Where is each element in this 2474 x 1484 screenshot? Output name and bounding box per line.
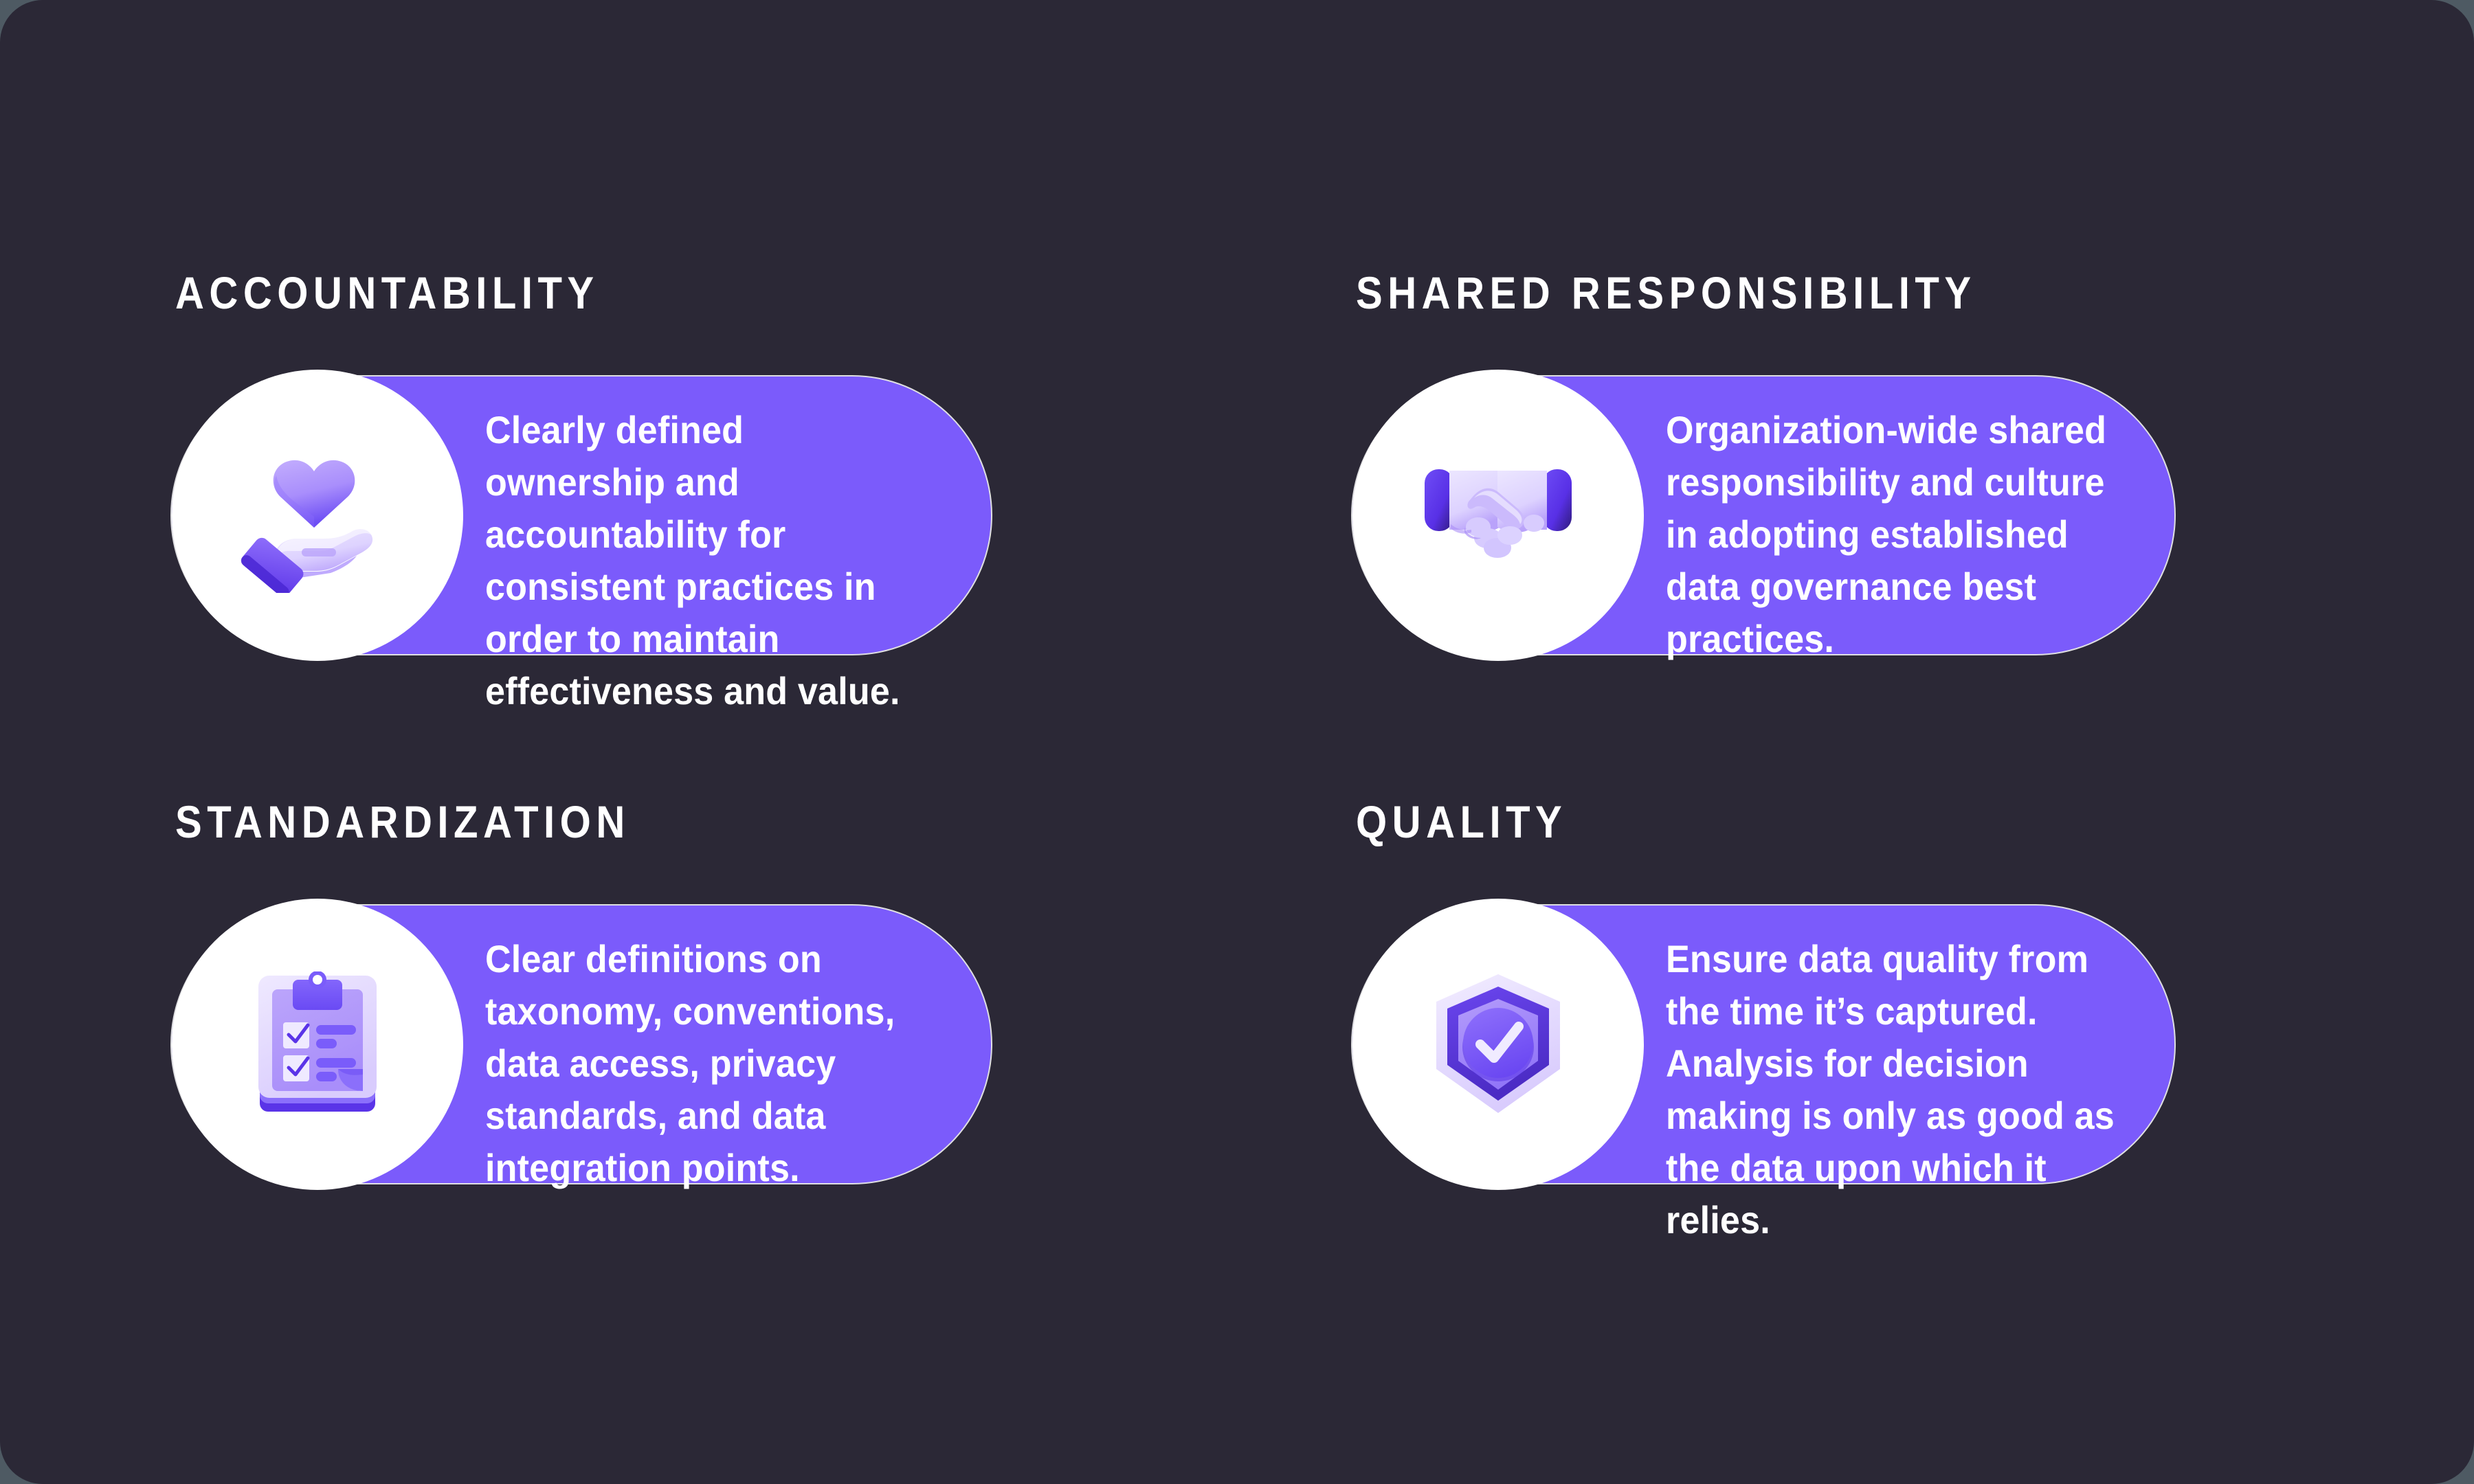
card-heading: STANDARDIZATION [175, 797, 630, 846]
feature-card-grid: ACCOUNTABILITY [172, 268, 2309, 1202]
icon-disc [172, 370, 463, 661]
card-heading: QUALITY [1356, 797, 1567, 846]
icon-disc [1352, 899, 1644, 1190]
handshake-icon [1423, 464, 1573, 567]
card-body-text: Organization-wide shared responsibility … [1666, 404, 2113, 665]
feature-card-standardization[interactable]: STANDARDIZATION [172, 797, 1168, 1182]
feature-card-shared-responsibility[interactable]: SHARED RESPONSIBILITY [1352, 268, 2349, 653]
card-heading: ACCOUNTABILITY [175, 268, 599, 317]
heart-in-hand-icon [238, 438, 397, 593]
card-heading: SHARED RESPONSIBILITY [1356, 268, 1976, 317]
infographic-canvas: ACCOUNTABILITY [0, 0, 2474, 1484]
icon-disc [172, 899, 463, 1190]
feature-card-accountability[interactable]: ACCOUNTABILITY [172, 268, 1168, 653]
card-body-text: Clear definitions on taxonomy, conventio… [485, 933, 952, 1194]
icon-disc [1352, 370, 1644, 661]
feature-card-quality[interactable]: QUALITY [1352, 797, 2349, 1182]
clipboard-checklist-icon [257, 971, 378, 1117]
shield-check-icon [1431, 971, 1565, 1117]
card-body-text: Clearly defined ownership and accountabi… [485, 404, 933, 717]
card-body-text: Ensure data quality from the time it’s c… [1666, 933, 2132, 1246]
